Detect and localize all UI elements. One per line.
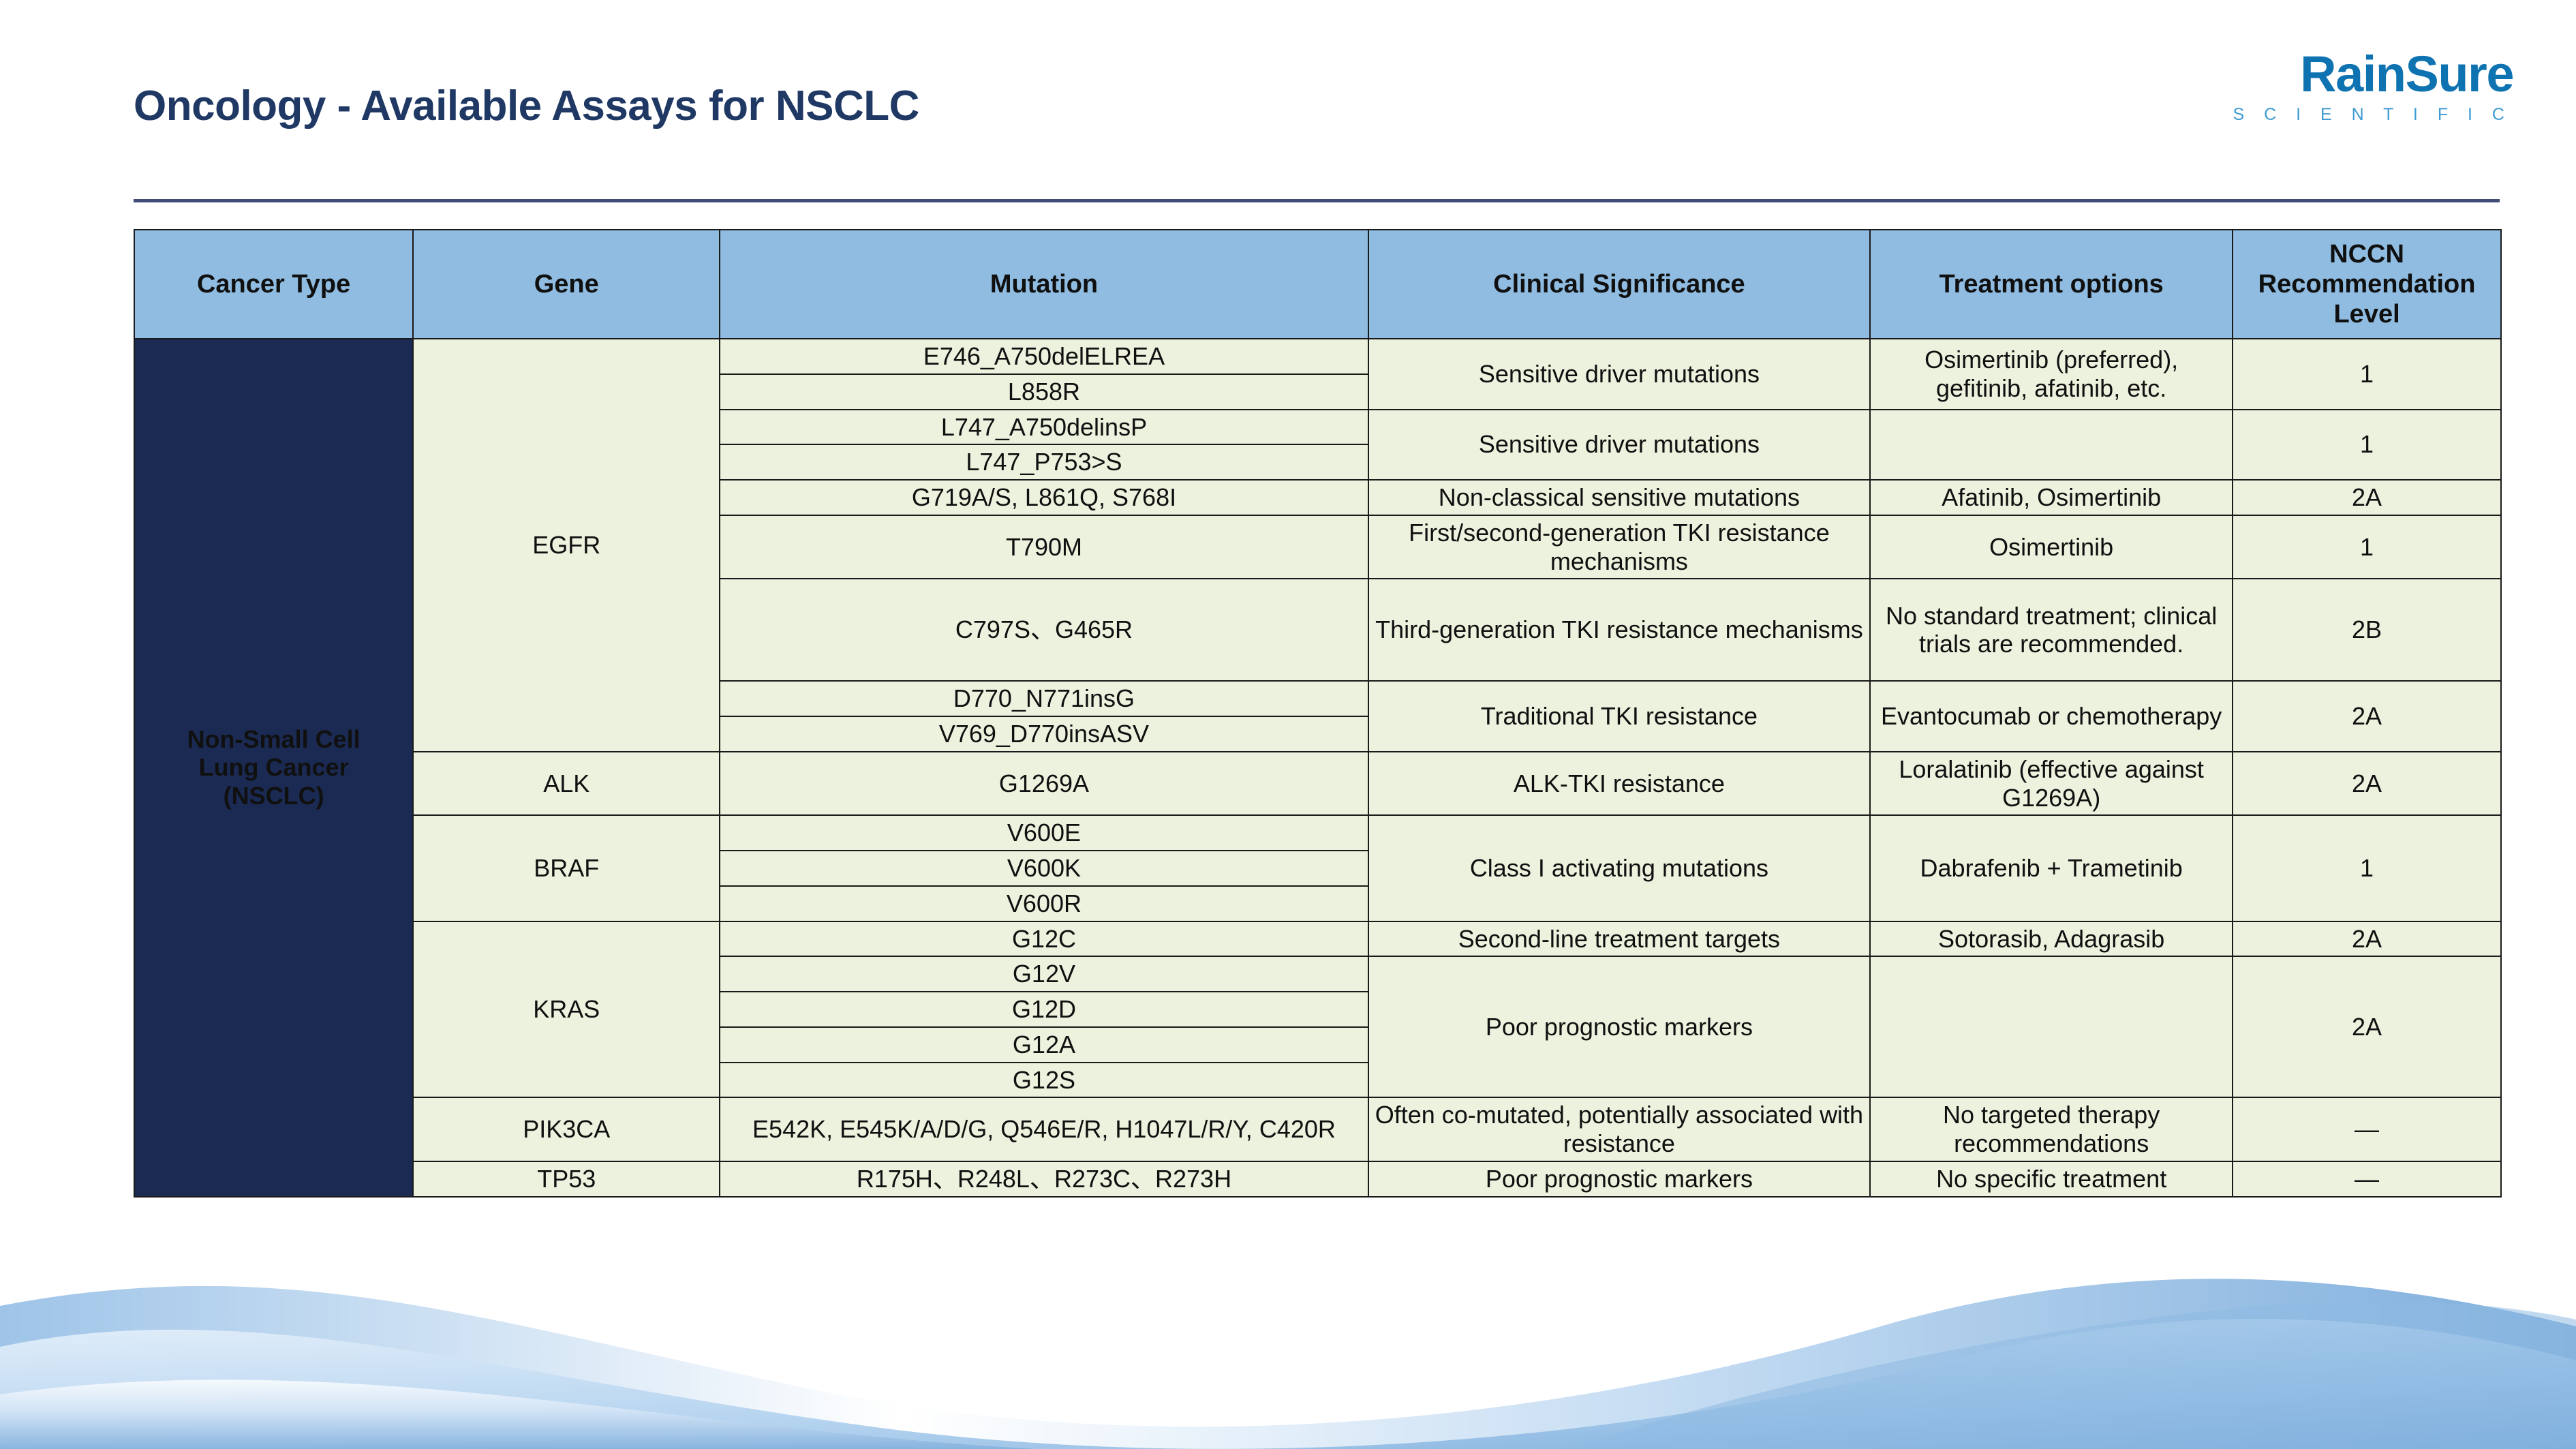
col-header-nccn-level: NCCN Recommendation Level — [2233, 230, 2501, 339]
header-divider — [134, 199, 2500, 202]
table-row: KRAS G12C Second-line treatment targets … — [134, 921, 2501, 957]
cancer-type-line-2: Lung Cancer — [140, 753, 407, 782]
col-header-cancer-type: Cancer Type — [134, 230, 413, 339]
mutation-cell: D770_N771insG — [720, 681, 1368, 716]
treatment-cell: No standard treatment; clinical trials a… — [1870, 579, 2233, 681]
gene-cell-pik3ca: PIK3CA — [413, 1097, 720, 1161]
nccn-cell: 2A — [2233, 956, 2501, 1097]
mutation-cell: V600E — [720, 815, 1368, 851]
col-header-mutation: Mutation — [720, 230, 1368, 339]
gene-cell-kras: KRAS — [413, 921, 720, 1098]
mutation-cell: L747_A750delinsP — [720, 410, 1368, 445]
nccn-cell: 2A — [2233, 752, 2501, 816]
nccn-cell: 2A — [2233, 921, 2501, 957]
mutation-cell: G12D — [720, 992, 1368, 1027]
nccn-cell: 2A — [2233, 681, 2501, 752]
gene-cell-egfr: EGFR — [413, 339, 720, 752]
significance-cell: Non-classical sensitive mutations — [1368, 480, 1871, 515]
col-header-clinical-significance: Clinical Significance — [1368, 230, 1871, 339]
significance-cell: Often co-mutated, potentially associated… — [1368, 1097, 1871, 1161]
treatment-cell: Osimertinib (preferred), gefitinib, afat… — [1870, 339, 2233, 410]
treatment-cell — [1870, 956, 2233, 1097]
page-title: Oncology - Available Assays for NSCLC — [134, 82, 919, 130]
decorative-wave-graphic — [0, 1224, 2576, 1449]
mutation-cell: C797S、G465R — [720, 579, 1368, 681]
treatment-cell: No targeted therapy recommendations — [1870, 1097, 2233, 1161]
table-row: BRAF V600E Class I activating mutations … — [134, 815, 2501, 851]
significance-cell: ALK-TKI resistance — [1368, 752, 1871, 816]
treatment-cell: Sotorasib, Adagrasib — [1870, 921, 2233, 957]
gene-cell-alk: ALK — [413, 752, 720, 816]
nccn-cell: — — [2233, 1161, 2501, 1197]
nccn-header-line-3: Level — [2239, 299, 2495, 329]
assays-table: Cancer Type Gene Mutation Clinical Signi… — [134, 229, 2502, 1198]
significance-cell: Sensitive driver mutations — [1368, 339, 1871, 410]
table-header-row: Cancer Type Gene Mutation Clinical Signi… — [134, 230, 2501, 339]
nccn-cell: 1 — [2233, 339, 2501, 410]
table-row: TP53 R175H、R248L、R273C、R273H Poor progno… — [134, 1161, 2501, 1197]
mutation-cell: R175H、R248L、R273C、R273H — [720, 1161, 1368, 1197]
significance-cell: Traditional TKI resistance — [1368, 681, 1871, 752]
nccn-cell: 1 — [2233, 815, 2501, 921]
col-header-gene: Gene — [413, 230, 720, 339]
mutation-cell: E542K, E545K/A/D/G, Q546E/R, H1047L/R/Y,… — [720, 1097, 1368, 1161]
mutation-cell: G12C — [720, 921, 1368, 957]
table-row: PIK3CA E542K, E545K/A/D/G, Q546E/R, H104… — [134, 1097, 2501, 1161]
treatment-cell: Evantocumab or chemotherapy — [1870, 681, 2233, 752]
significance-cell: Sensitive driver mutations — [1368, 410, 1871, 481]
nccn-cell: 2B — [2233, 579, 2501, 681]
nccn-cell: — — [2233, 1097, 2501, 1161]
mutation-cell: G1269A — [720, 752, 1368, 816]
cancer-type-cell: Non-Small Cell Lung Cancer (NSCLC) — [134, 339, 413, 1197]
nccn-cell: 1 — [2233, 410, 2501, 481]
significance-cell: Class I activating mutations — [1368, 815, 1871, 921]
nccn-header-line-1: NCCN — [2239, 239, 2495, 269]
significance-cell: Third-generation TKI resistance mechanis… — [1368, 579, 1871, 681]
mutation-cell: L747_P753>S — [720, 444, 1368, 480]
logo-wordmark: RainSure — [2233, 49, 2513, 100]
nccn-header-line-2: Recommendation — [2239, 269, 2495, 299]
cancer-type-line-3: (NSCLC) — [140, 782, 407, 810]
rainsure-logo: RainSure S C I E N T I F I C — [2233, 49, 2513, 125]
significance-cell: Poor prognostic markers — [1368, 956, 1871, 1097]
mutation-cell: V600R — [720, 886, 1368, 921]
col-header-treatment-options: Treatment options — [1870, 230, 2233, 339]
mutation-cell: G719A/S, L861Q, S768I — [720, 480, 1368, 515]
significance-cell: First/second-generation TKI resistance m… — [1368, 515, 1871, 579]
treatment-cell — [1870, 410, 2233, 481]
slide-canvas: Oncology - Available Assays for NSCLC Ra… — [0, 0, 2576, 1449]
gene-cell-tp53: TP53 — [413, 1161, 720, 1197]
treatment-cell: Dabrafenib + Trametinib — [1870, 815, 2233, 921]
table-row: ALK G1269A ALK-TKI resistance Loralatini… — [134, 752, 2501, 816]
nccn-cell: 2A — [2233, 480, 2501, 515]
mutation-cell: V600K — [720, 851, 1368, 886]
mutation-cell: G12A — [720, 1027, 1368, 1063]
mutation-cell: E746_A750delELREA — [720, 339, 1368, 374]
logo-tagline: S C I E N T I F I C — [2233, 105, 2513, 125]
mutation-cell: L858R — [720, 374, 1368, 410]
table-row: Non-Small Cell Lung Cancer (NSCLC) EGFR … — [134, 339, 2501, 374]
mutation-cell: G12V — [720, 956, 1368, 992]
treatment-cell: No specific treatment — [1870, 1161, 2233, 1197]
treatment-cell: Loralatinib (effective against G1269A) — [1870, 752, 2233, 816]
treatment-cell: Afatinib, Osimertinib — [1870, 480, 2233, 515]
mutation-cell: G12S — [720, 1063, 1368, 1098]
significance-cell: Poor prognostic markers — [1368, 1161, 1871, 1197]
treatment-cell: Osimertinib — [1870, 515, 2233, 579]
significance-cell: Second-line treatment targets — [1368, 921, 1871, 957]
gene-cell-braf: BRAF — [413, 815, 720, 921]
mutation-cell: V769_D770insASV — [720, 716, 1368, 752]
nccn-cell: 1 — [2233, 515, 2501, 579]
cancer-type-line-1: Non-Small Cell — [140, 725, 407, 754]
mutation-cell: T790M — [720, 515, 1368, 579]
